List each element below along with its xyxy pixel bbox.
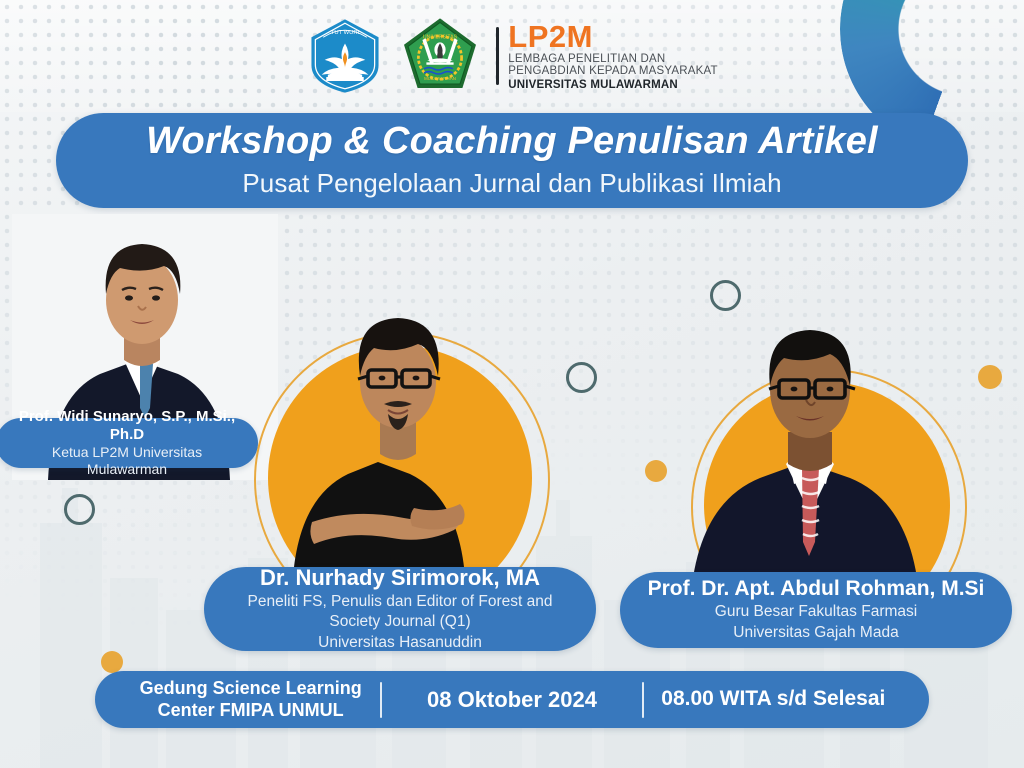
speaker-badge-right: Prof. Dr. Apt. Abdul Rohman, M.Si Guru B… <box>620 572 1012 648</box>
universitas-mulawarman-logo: UNIVERSITAS MULAWARMAN <box>400 16 480 96</box>
speaker-role-center-line-3: Universitas Hasanuddin <box>318 634 482 653</box>
orange-dot-decoration-center <box>645 460 667 482</box>
poster-canvas: TUT WURI UNIVERSITAS MULAWARMAN LP2M <box>0 0 1024 768</box>
event-date: 08 Oktober 2024 <box>382 687 641 713</box>
tut-wuri-handayani-logo: TUT WURI <box>306 17 384 95</box>
orange-dot-decoration-left <box>101 651 123 673</box>
event-info-bar: Gedung Science Learning Center FMIPA UNM… <box>95 671 929 728</box>
speaker-badge-left: Prof. Widi Sunaryo, S.P., M.Si., Ph.D Ke… <box>0 418 258 468</box>
speaker-badge-center: Dr. Nurhady Sirimorok, MA Peneliti FS, P… <box>204 567 596 651</box>
event-venue-line-2: Center FMIPA UNMUL <box>121 700 380 721</box>
page-title: Workshop & Coaching Penulisan Artikel <box>146 122 878 162</box>
lp2m-line-1: LEMBAGA PENELITIAN DAN <box>508 54 717 66</box>
speaker-photo-right <box>676 306 982 606</box>
lp2m-line-3: UNIVERSITAS MULAWARMAN <box>508 80 717 92</box>
header-logos: TUT WURI UNIVERSITAS MULAWARMAN LP2M <box>0 12 1024 100</box>
svg-text:MULAWARMAN: MULAWARMAN <box>424 76 456 81</box>
page-subtitle: Pusat Pengelolaan Jurnal dan Publikasi I… <box>242 168 781 199</box>
teal-ring-decoration-bottom <box>64 494 95 525</box>
speaker-role-center-line-1: Peneliti FS, Penulis dan Editor of Fores… <box>248 593 553 612</box>
title-banner: Workshop & Coaching Penulisan Artikel Pu… <box>56 113 968 208</box>
event-venue: Gedung Science Learning Center FMIPA UNM… <box>121 678 380 720</box>
event-venue-line-1: Gedung Science Learning <box>121 678 380 699</box>
lp2m-divider-rule <box>496 27 499 85</box>
svg-text:UNIVERSITAS: UNIVERSITAS <box>423 34 458 40</box>
event-time: 08.00 WITA s/d Selesai <box>644 687 903 712</box>
speaker-role-center-line-2: Society Journal (Q1) <box>329 613 470 632</box>
speaker-name-right: Prof. Dr. Apt. Abdul Rohman, M.Si <box>648 577 985 601</box>
speaker-role-right-line-1: Guru Besar Fakultas Farmasi <box>715 603 917 622</box>
speaker-name-center: Dr. Nurhady Sirimorok, MA <box>260 565 540 590</box>
speaker-role-left: Ketua LP2M Universitas Mulawarman <box>12 444 242 478</box>
lp2m-line-2: PENGABDIAN KEPADA MASYARAKAT <box>508 66 717 78</box>
svg-text:TUT WURI: TUT WURI <box>331 30 360 36</box>
speaker-role-right-line-2: Universitas Gajah Mada <box>733 624 898 643</box>
lp2m-wordmark: LP2M LEMBAGA PENELITIAN DAN PENGABDIAN K… <box>496 21 717 92</box>
teal-ring-decoration-middle <box>566 362 597 393</box>
speaker-photo-center <box>268 290 540 596</box>
speaker-name-left: Prof. Widi Sunaryo, S.P., M.Si., Ph.D <box>12 408 242 443</box>
lp2m-acronym: LP2M <box>508 21 717 52</box>
